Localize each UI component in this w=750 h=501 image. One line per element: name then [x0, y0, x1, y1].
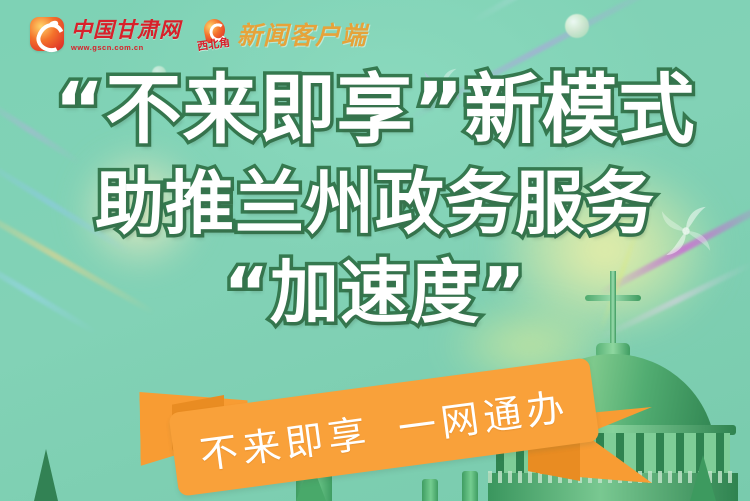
gscn-swan-mark-icon	[30, 17, 64, 51]
news-app-label: 新闻客户端	[237, 16, 367, 52]
streak-white-top-right	[469, 0, 602, 26]
ribbon-text-right: 一网通办	[394, 375, 572, 452]
gscn-logo[interactable]: 中国甘肃网 www.gscn.com.cn	[30, 17, 181, 51]
ribbon-text: 不来即享 一网通办	[168, 357, 599, 496]
ribbon-text-left: 不来即享	[196, 402, 374, 479]
gscn-logo-text: 中国甘肃网 www.gscn.com.cn	[71, 20, 181, 52]
header-logo-bar: 中国甘肃网 www.gscn.com.cn 西北角 新闻客户端	[30, 16, 367, 52]
headline-line-2: 助推兰州政务服务	[0, 170, 750, 239]
gscn-site-name: 中国甘肃网	[71, 20, 181, 41]
poster-canvas: 中国甘肃网 www.gscn.com.cn 西北角 新闻客户端 “不来即享”新模…	[0, 0, 750, 501]
xibeijiao-label: 西北角	[196, 34, 231, 54]
headline-line-1: “不来即享”新模式	[0, 72, 750, 148]
xibeijiao-logo[interactable]: 西北角 新闻客户端	[201, 16, 367, 52]
bubble-icon	[565, 14, 589, 38]
gscn-site-url: www.gscn.com.cn	[71, 44, 181, 52]
headline-block: “不来即享”新模式 助推兰州政务服务 “加速度”	[0, 72, 750, 328]
xibeijiao-drop-mark-icon: 西北角	[201, 19, 227, 49]
ribbon-banner: 不来即享 一网通办	[0, 355, 750, 501]
